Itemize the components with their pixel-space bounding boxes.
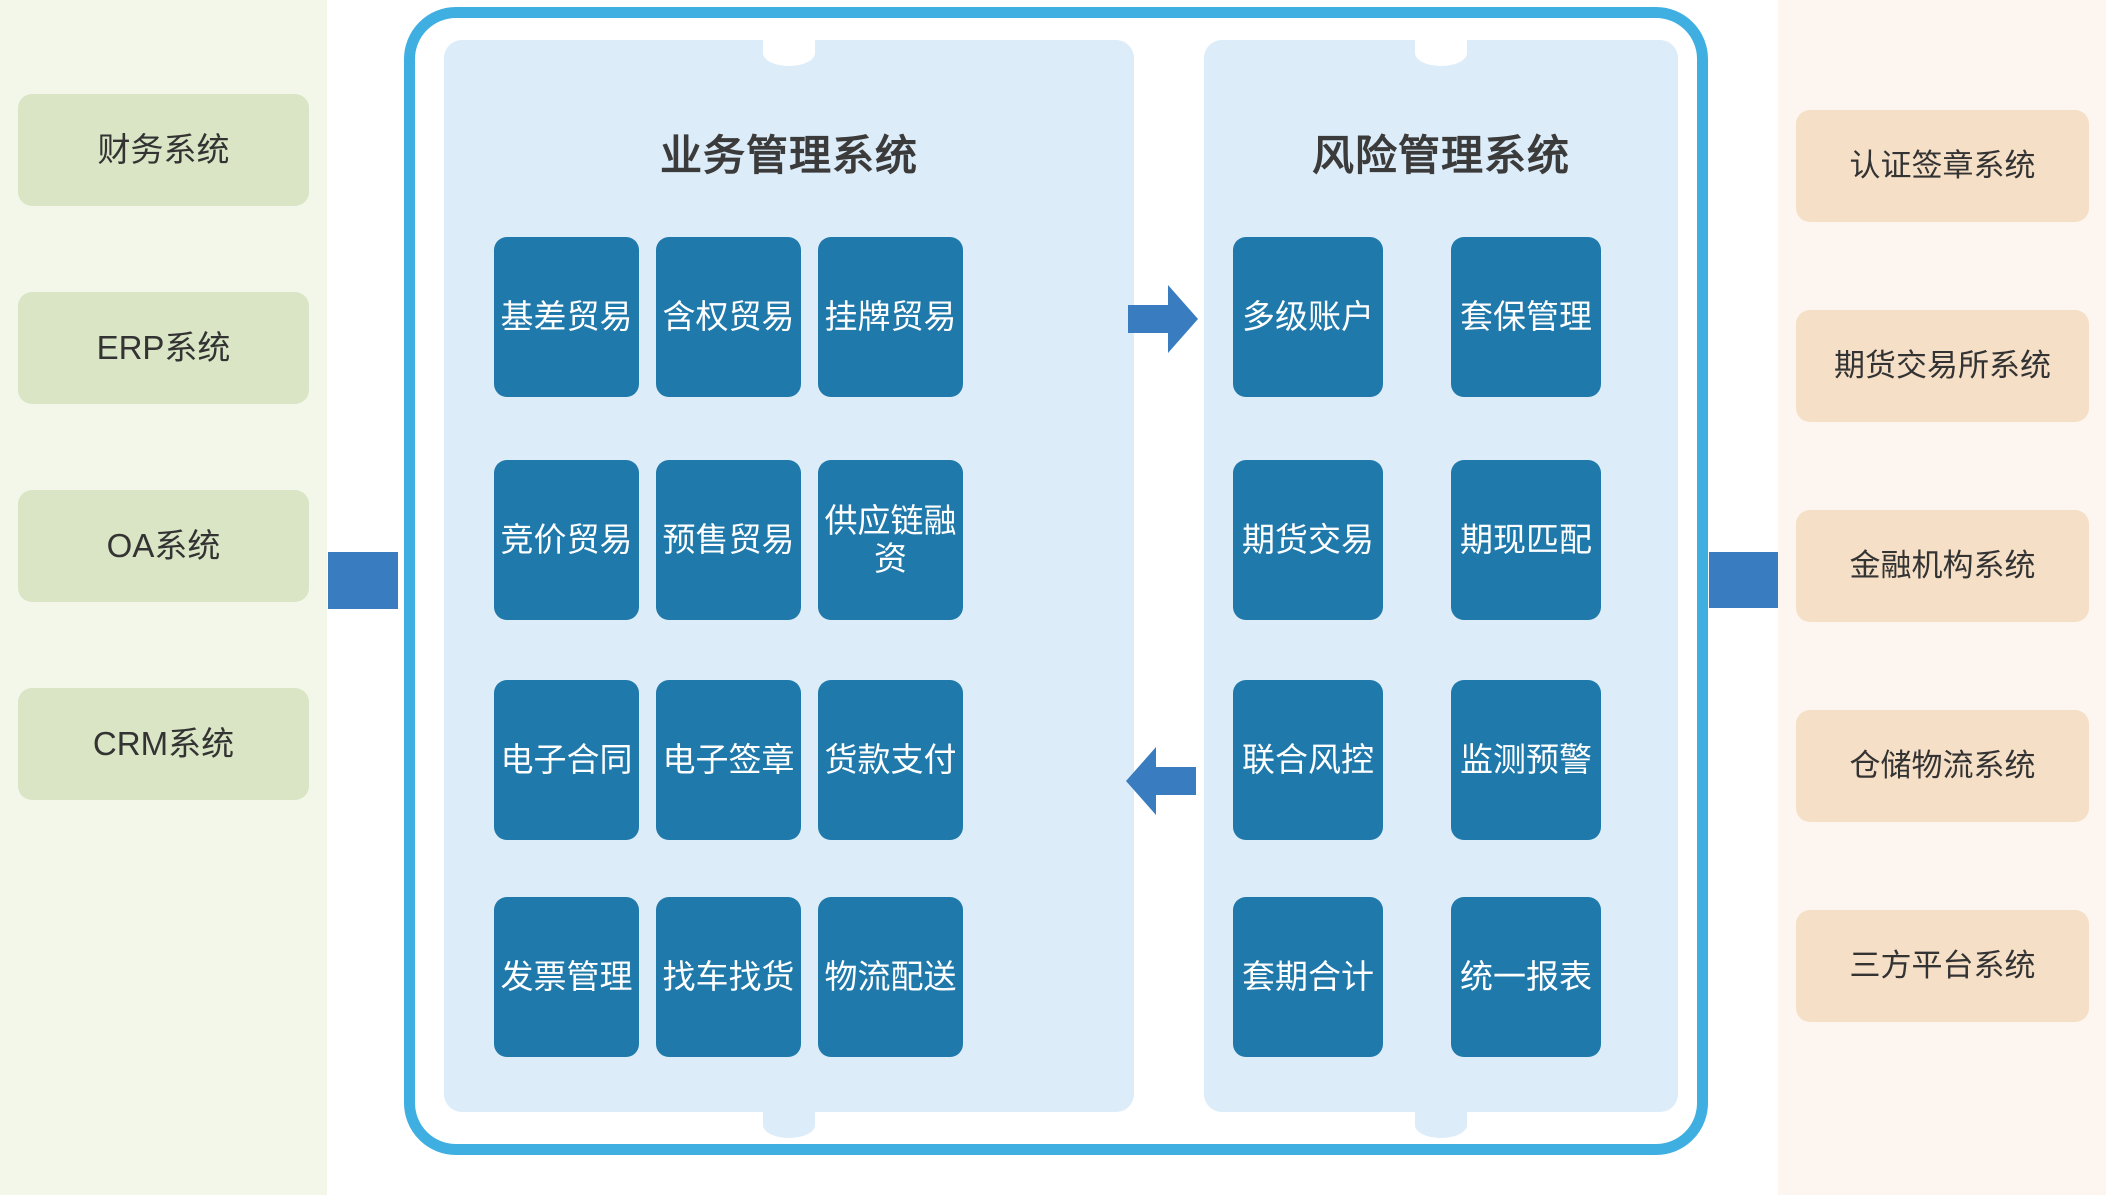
left-rail-card-3[interactable]: OA系统 (18, 490, 309, 602)
tile-label: 货款支付 (825, 741, 957, 779)
tile-label: 发票管理 (501, 958, 633, 996)
business-panel-notch-icon (763, 40, 815, 66)
right-rail-card-1-label: 认证签章系统 (1850, 147, 2036, 184)
tile-business-r3c2[interactable]: 电子签章 (656, 680, 801, 840)
tile-business-r1c1[interactable]: 基差贸易 (494, 237, 639, 397)
tile-label: 期现匹配 (1460, 521, 1592, 559)
arrow-left-icon (1126, 747, 1196, 815)
left-rail-card-2-label: ERP系统 (97, 328, 231, 368)
tile-label: 套期合计 (1242, 958, 1374, 996)
tile-business-r1c2[interactable]: 含权贸易 (656, 237, 801, 397)
tile-risk-r2c1[interactable]: 期货交易 (1233, 460, 1383, 620)
tile-label: 套保管理 (1460, 298, 1592, 336)
tile-risk-r2c2[interactable]: 期现匹配 (1451, 460, 1601, 620)
right-rail-card-2[interactable]: 期货交易所系统 (1796, 310, 2089, 422)
right-rail-card-3[interactable]: 金融机构系统 (1796, 510, 2089, 622)
right-rail: 认证签章系统 期货交易所系统 金融机构系统 仓储物流系统 三方平台系统 (1778, 0, 2106, 1195)
tile-business-r2c2[interactable]: 预售贸易 (656, 460, 801, 620)
business-panel-title: 业务管理系统 (444, 122, 1134, 183)
tile-label: 多级账户 (1242, 298, 1374, 336)
right-rail-card-1[interactable]: 认证签章系统 (1796, 110, 2089, 222)
tile-label: 找车找货 (663, 958, 795, 996)
tile-business-r2c1[interactable]: 竞价贸易 (494, 460, 639, 620)
tile-business-r4c2[interactable]: 找车找货 (656, 897, 801, 1057)
right-rail-card-2-label: 期货交易所系统 (1834, 347, 2051, 384)
tile-business-r3c3[interactable]: 货款支付 (818, 680, 963, 840)
left-rail-card-1[interactable]: 财务系统 (18, 94, 309, 206)
right-rail-card-5-label: 三方平台系统 (1850, 947, 2036, 984)
tile-risk-r4c1[interactable]: 套期合计 (1233, 897, 1383, 1057)
left-rail-card-1-label: 财务系统 (98, 130, 230, 170)
diagram-canvas: 财务系统 ERP系统 OA系统 CRM系统 认证签章系统 期货交易所系统 金融机… (0, 0, 2106, 1195)
tile-risk-r1c1[interactable]: 多级账户 (1233, 237, 1383, 397)
connector-right-icon (1709, 552, 1778, 608)
tile-risk-r3c2[interactable]: 监测预警 (1451, 680, 1601, 840)
tile-label: 联合风控 (1242, 741, 1374, 779)
tile-label: 含权贸易 (663, 298, 795, 336)
tile-label: 竞价贸易 (501, 521, 633, 559)
risk-panel-title: 风险管理系统 (1204, 122, 1678, 183)
right-rail-card-3-label: 金融机构系统 (1850, 547, 2036, 584)
tile-label: 监测预警 (1460, 741, 1592, 779)
tile-risk-r4c2[interactable]: 统一报表 (1451, 897, 1601, 1057)
tile-business-r2c3[interactable]: 供应链融资 (818, 460, 963, 620)
tile-risk-r3c1[interactable]: 联合风控 (1233, 680, 1383, 840)
risk-panel-bump-icon (1415, 1112, 1467, 1138)
right-rail-card-5[interactable]: 三方平台系统 (1796, 910, 2089, 1022)
left-rail: 财务系统 ERP系统 OA系统 CRM系统 (0, 0, 327, 1195)
tile-label: 供应链融资 (818, 502, 963, 578)
tile-label: 预售贸易 (663, 521, 795, 559)
business-panel-bump-icon (763, 1112, 815, 1138)
tile-business-r3c1[interactable]: 电子合同 (494, 680, 639, 840)
tile-business-r4c3[interactable]: 物流配送 (818, 897, 963, 1057)
tile-label: 电子合同 (501, 741, 633, 779)
left-rail-card-4[interactable]: CRM系统 (18, 688, 309, 800)
tile-business-r4c1[interactable]: 发票管理 (494, 897, 639, 1057)
tile-label: 挂牌贸易 (825, 298, 957, 336)
tile-risk-r1c2[interactable]: 套保管理 (1451, 237, 1601, 397)
left-rail-card-4-label: CRM系统 (93, 724, 234, 764)
tile-label: 统一报表 (1460, 958, 1592, 996)
tile-label: 物流配送 (825, 958, 957, 996)
left-rail-card-3-label: OA系统 (107, 526, 221, 566)
tile-label: 期货交易 (1242, 521, 1374, 559)
tile-label: 电子签章 (663, 741, 795, 779)
arrow-right-icon (1128, 285, 1198, 353)
right-rail-card-4[interactable]: 仓储物流系统 (1796, 710, 2089, 822)
right-rail-card-4-label: 仓储物流系统 (1850, 747, 2036, 784)
risk-panel-notch-icon (1415, 40, 1467, 66)
connector-left-icon (328, 552, 398, 609)
tile-business-r1c3[interactable]: 挂牌贸易 (818, 237, 963, 397)
left-rail-card-2[interactable]: ERP系统 (18, 292, 309, 404)
tile-label: 基差贸易 (501, 298, 633, 336)
